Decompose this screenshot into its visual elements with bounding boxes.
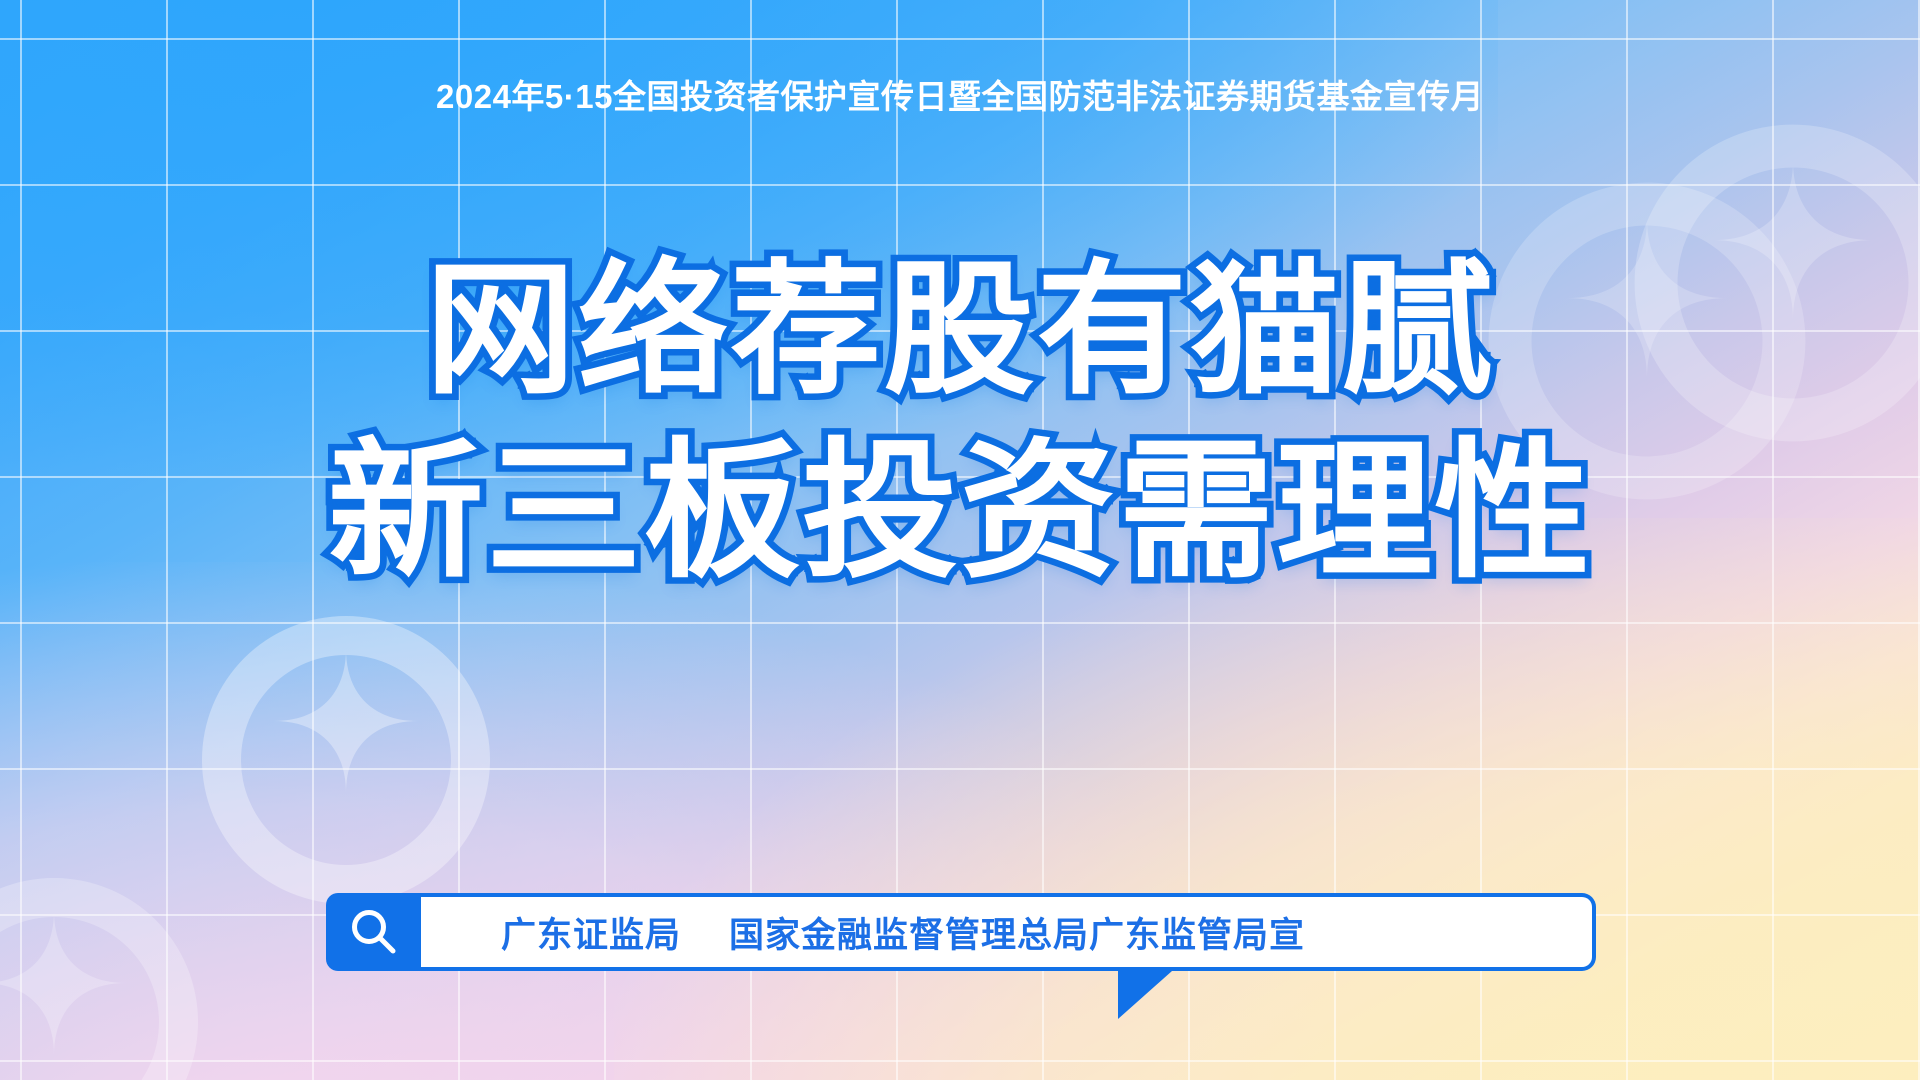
campaign-kicker: 2024年5·15全国投资者保护宣传日暨全国防范非法证券期货基金宣传月: [0, 70, 1920, 118]
headline-line-2: 新三板投资需理性: [0, 437, 1920, 587]
credit-org-right: 国家金融监督管理总局广东监管局宣: [729, 916, 1305, 955]
credit-line: 广东证监局国家金融监督管理总局广东监管局宣: [501, 907, 1305, 958]
poster-canvas: 2024年5·15全国投资者保护宣传日暨全国防范非法证券期货基金宣传月 网络荐股…: [0, 0, 1920, 1080]
credit-bubble-tail: [1118, 971, 1172, 1019]
credit-text-box: 广东证监局国家金融监督管理总局广东监管局宣: [421, 893, 1596, 971]
search-icon-badge: [326, 893, 421, 971]
search-icon: [348, 906, 400, 958]
credit-org-left: 广东证监局: [501, 916, 681, 955]
page-title: 网络荐股有猫腻 新三板投资需理性: [0, 258, 1920, 587]
credit-bar: 广东证监局国家金融监督管理总局广东监管局宣: [326, 893, 1596, 971]
coin-flower-ornament: [0, 872, 204, 1080]
headline-line-1: 网络荐股有猫腻: [0, 258, 1920, 403]
background-tint-cream: [614, 518, 1920, 1080]
coin-flower-ornament: [196, 610, 496, 910]
